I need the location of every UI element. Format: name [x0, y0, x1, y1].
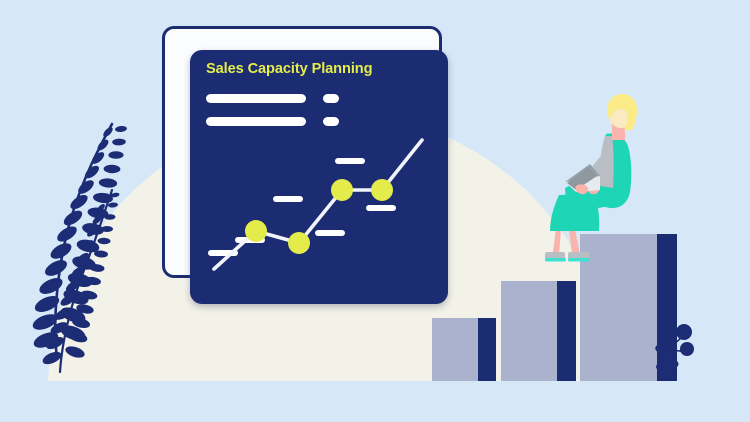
- chart-line: [214, 140, 422, 269]
- chart-point-1: [245, 220, 267, 242]
- bar-3: [580, 234, 677, 381]
- illustration-canvas: Sales Capacity Planning: [0, 0, 750, 422]
- chart-point-4: [371, 179, 393, 201]
- dash-right: [366, 205, 396, 211]
- dash-mid-left: [273, 196, 303, 202]
- dash-upper-mid: [335, 158, 365, 164]
- dash-center: [315, 230, 345, 236]
- chart-point-3: [331, 179, 353, 201]
- dashboard-card[interactable]: Sales Capacity Planning: [190, 50, 448, 304]
- line-chart: [190, 50, 448, 304]
- bar-1: [432, 318, 496, 381]
- chart-point-2: [288, 232, 310, 254]
- shoe-front: [568, 252, 589, 259]
- bar-2: [501, 281, 576, 381]
- shoe-back: [545, 252, 565, 259]
